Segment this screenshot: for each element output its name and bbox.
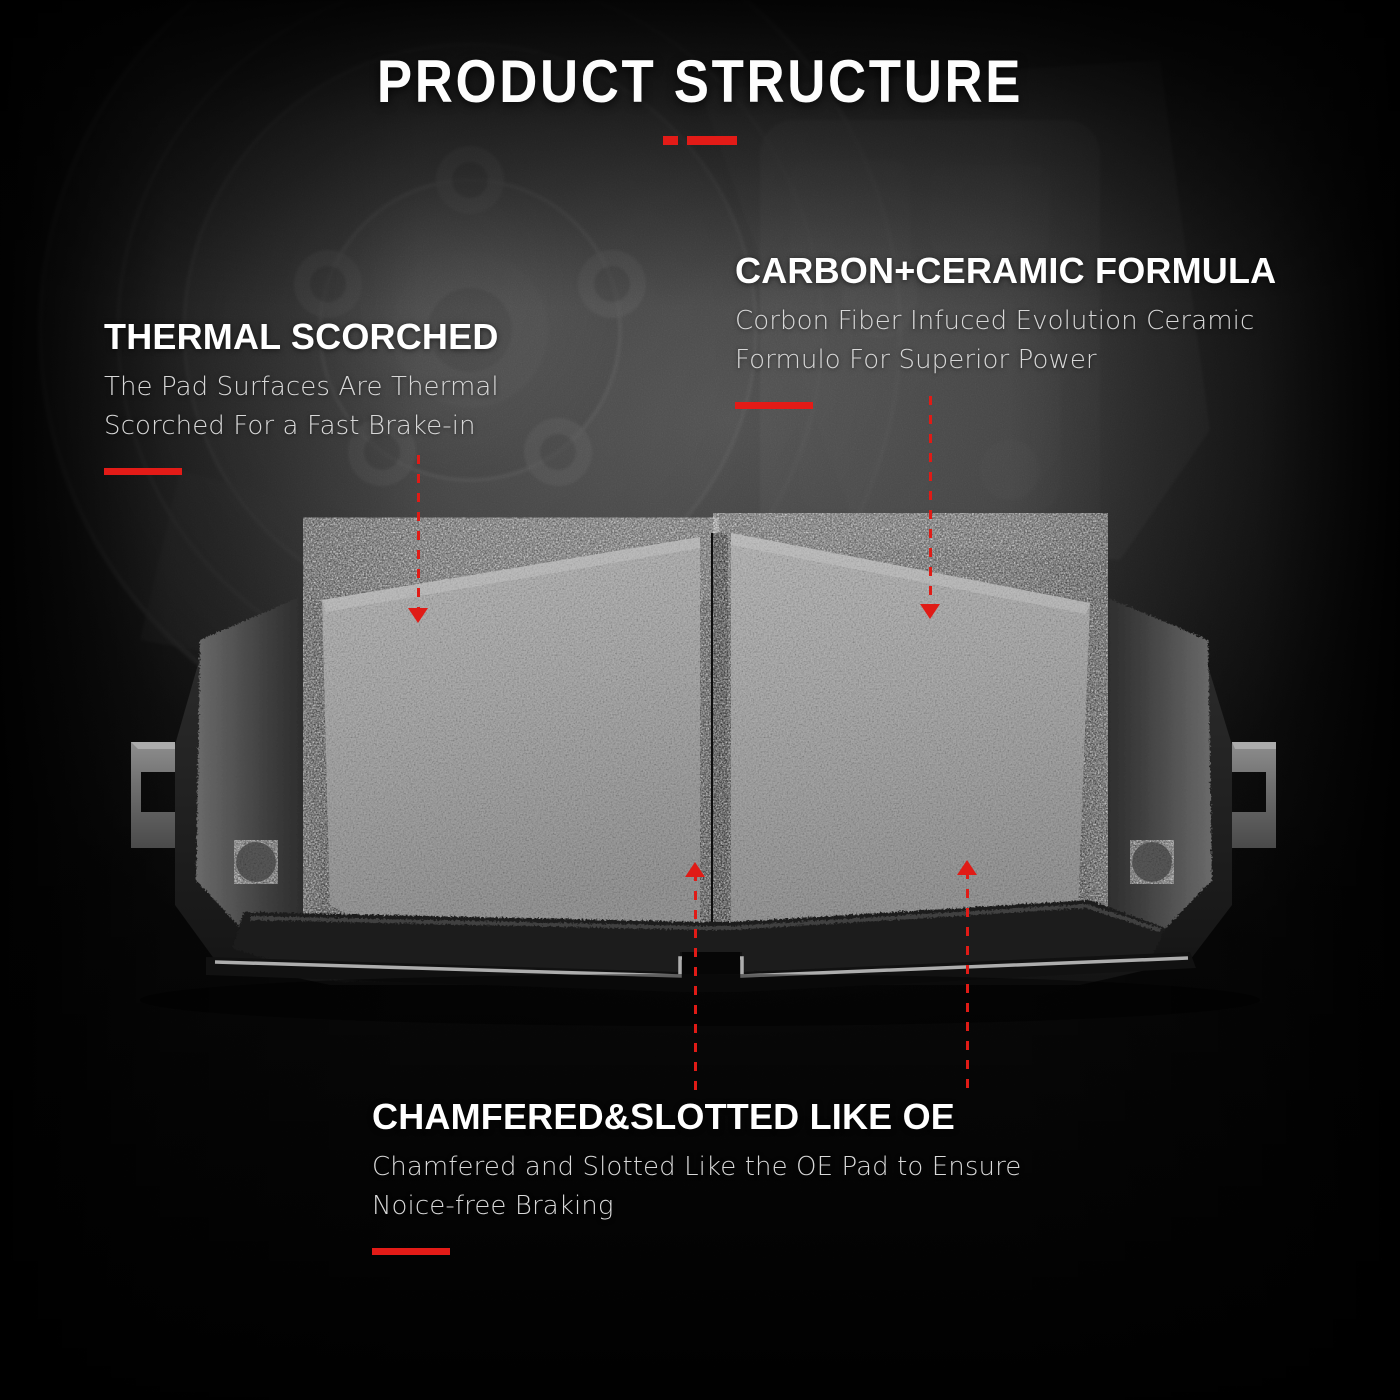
leader-line-chamfer-slot (694, 872, 697, 1094)
callout-chamfered-slotted: CHAMFERED&SLOTTED LIKE OE Chamfered and … (372, 1098, 1052, 1255)
page-title: PRODUCT STRUCTURE (84, 52, 1316, 112)
callout-carbon-ceramic: CARBON+CERAMIC FORMULA Corbon Fiber Infu… (735, 252, 1360, 409)
callout-carbon-heading: CARBON+CERAMIC FORMULA (735, 252, 1360, 290)
leader-line-thermal (417, 455, 420, 625)
leader-line-carbon (929, 396, 932, 621)
product-structure-infographic: PRODUCT STRUCTURE (0, 0, 1400, 1400)
callout-thermal-heading: THERMAL SCORCHED (104, 318, 584, 356)
page-title-block: PRODUCT STRUCTURE (0, 52, 1400, 145)
title-accent-bar (687, 136, 737, 145)
callout-carbon-body: Corbon Fiber Infuced Evolution Ceramic F… (735, 302, 1360, 380)
callout-chamfer-accent-rule (372, 1248, 450, 1255)
callout-carbon-accent-rule (735, 402, 813, 409)
leader-arrow-chamfer-slot (685, 862, 705, 877)
leader-arrow-carbon (920, 604, 940, 619)
callout-chamfer-heading: CHAMFERED&SLOTTED LIKE OE (372, 1098, 1052, 1136)
leader-arrow-chamfer-edge (957, 860, 977, 875)
callout-chamfer-body: Chamfered and Slotted Like the OE Pad to… (372, 1148, 1052, 1226)
callout-thermal-body: The Pad Surfaces Are Thermal Scorched Fo… (104, 368, 584, 446)
leader-arrow-thermal (408, 608, 428, 623)
title-accent-dash (663, 136, 678, 145)
callout-thermal-scorched: THERMAL SCORCHED The Pad Surfaces Are Th… (104, 318, 584, 475)
leader-line-chamfer-edge (966, 870, 969, 1094)
callout-thermal-accent-rule (104, 468, 182, 475)
title-accent-rule (663, 136, 737, 145)
